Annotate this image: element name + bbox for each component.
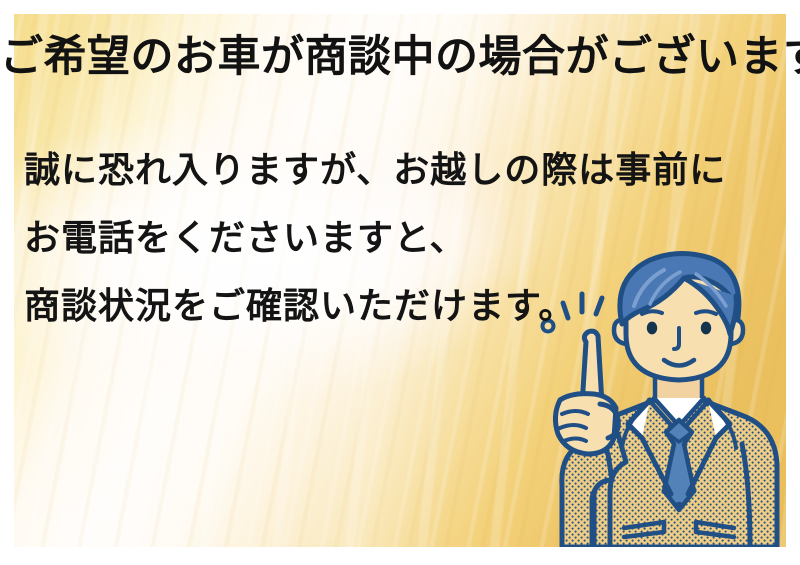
- notice-body: 誠に恐れ入りますが、お越しの際は事前に お電話をくださいますと、 商談状況をご確…: [24, 152, 726, 324]
- notice-banner: ご希望のお車が商談中の場合がございます 誠に恐れ入りますが、お越しの際は事前に …: [0, 0, 800, 565]
- page-title: ご希望のお車が商談中の場合がございます: [0, 34, 800, 80]
- notice-body-line-1: 誠に恐れ入りますが、お越しの際は事前に: [24, 152, 726, 188]
- notice-body-line-3: 商談状況をご確認いただけます。: [24, 288, 726, 324]
- notice-body-line-2: お電話をくださいますと、: [24, 220, 726, 256]
